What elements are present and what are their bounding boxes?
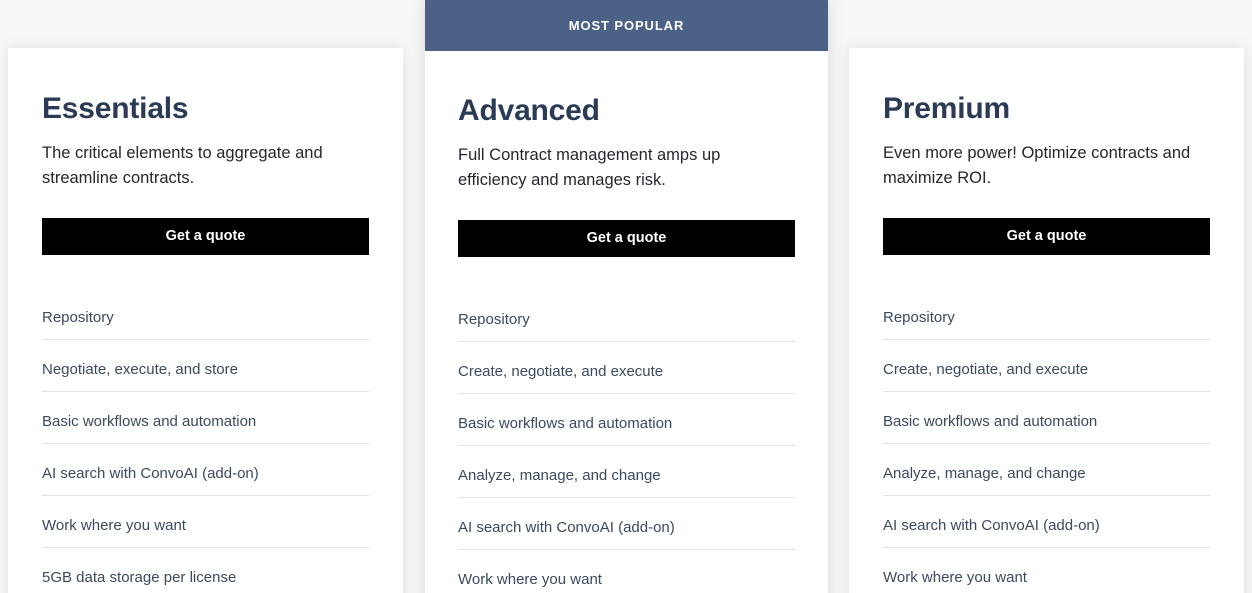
feature-item: Work where you want — [42, 496, 369, 548]
feature-item: Create, negotiate, and execute — [883, 340, 1210, 392]
plan-card-body: Premium Even more power! Optimize contra… — [849, 48, 1244, 593]
feature-item: Work where you want — [458, 550, 795, 593]
plan-card-body: Advanced Full Contract management amps u… — [425, 51, 828, 593]
feature-item: Repository — [458, 302, 795, 342]
pricing-plans-section: Essentials The critical elements to aggr… — [0, 0, 1252, 593]
feature-item: Repository — [42, 300, 369, 340]
plan-description-premium: Even more power! Optimize contracts and … — [883, 127, 1210, 192]
plan-title-premium: Premium — [883, 48, 1210, 127]
plan-card-body: Essentials The critical elements to aggr… — [8, 48, 403, 593]
get-a-quote-button-advanced[interactable]: Get a quote — [458, 220, 795, 257]
plan-card-advanced: MOST POPULAR Advanced Full Contract mana… — [425, 0, 828, 593]
most-popular-badge: MOST POPULAR — [425, 0, 828, 51]
feature-item: Analyze, manage, and change — [883, 444, 1210, 496]
get-a-quote-button-premium[interactable]: Get a quote — [883, 218, 1210, 255]
plan-description-essentials: The critical elements to aggregate and s… — [42, 127, 369, 192]
feature-item: Work where you want — [883, 548, 1210, 593]
plan-card-premium: Premium Even more power! Optimize contra… — [849, 48, 1244, 593]
feature-item: AI search with ConvoAI (add-on) — [458, 498, 795, 550]
get-a-quote-button-essentials[interactable]: Get a quote — [42, 218, 369, 255]
plan-card-essentials: Essentials The critical elements to aggr… — [8, 48, 403, 593]
feature-list-advanced: Repository Create, negotiate, and execut… — [458, 302, 795, 593]
feature-item: AI search with ConvoAI (add-on) — [883, 496, 1210, 548]
feature-item: AI search with ConvoAI (add-on) — [42, 444, 369, 496]
plan-description-advanced: Full Contract management amps up efficie… — [458, 129, 788, 194]
feature-item: Basic workflows and automation — [42, 392, 369, 444]
plan-title-essentials: Essentials — [42, 48, 369, 127]
feature-item: Analyze, manage, and change — [458, 446, 795, 498]
feature-item: Basic workflows and automation — [458, 394, 795, 446]
feature-item: 5GB data storage per license — [42, 548, 369, 593]
feature-list-essentials: Repository Negotiate, execute, and store… — [42, 300, 369, 593]
feature-item: Create, negotiate, and execute — [458, 342, 795, 394]
feature-list-premium: Repository Create, negotiate, and execut… — [883, 300, 1210, 593]
feature-item: Negotiate, execute, and store — [42, 340, 369, 392]
plan-title-advanced: Advanced — [458, 51, 795, 129]
feature-item: Repository — [883, 300, 1210, 340]
feature-item: Basic workflows and automation — [883, 392, 1210, 444]
